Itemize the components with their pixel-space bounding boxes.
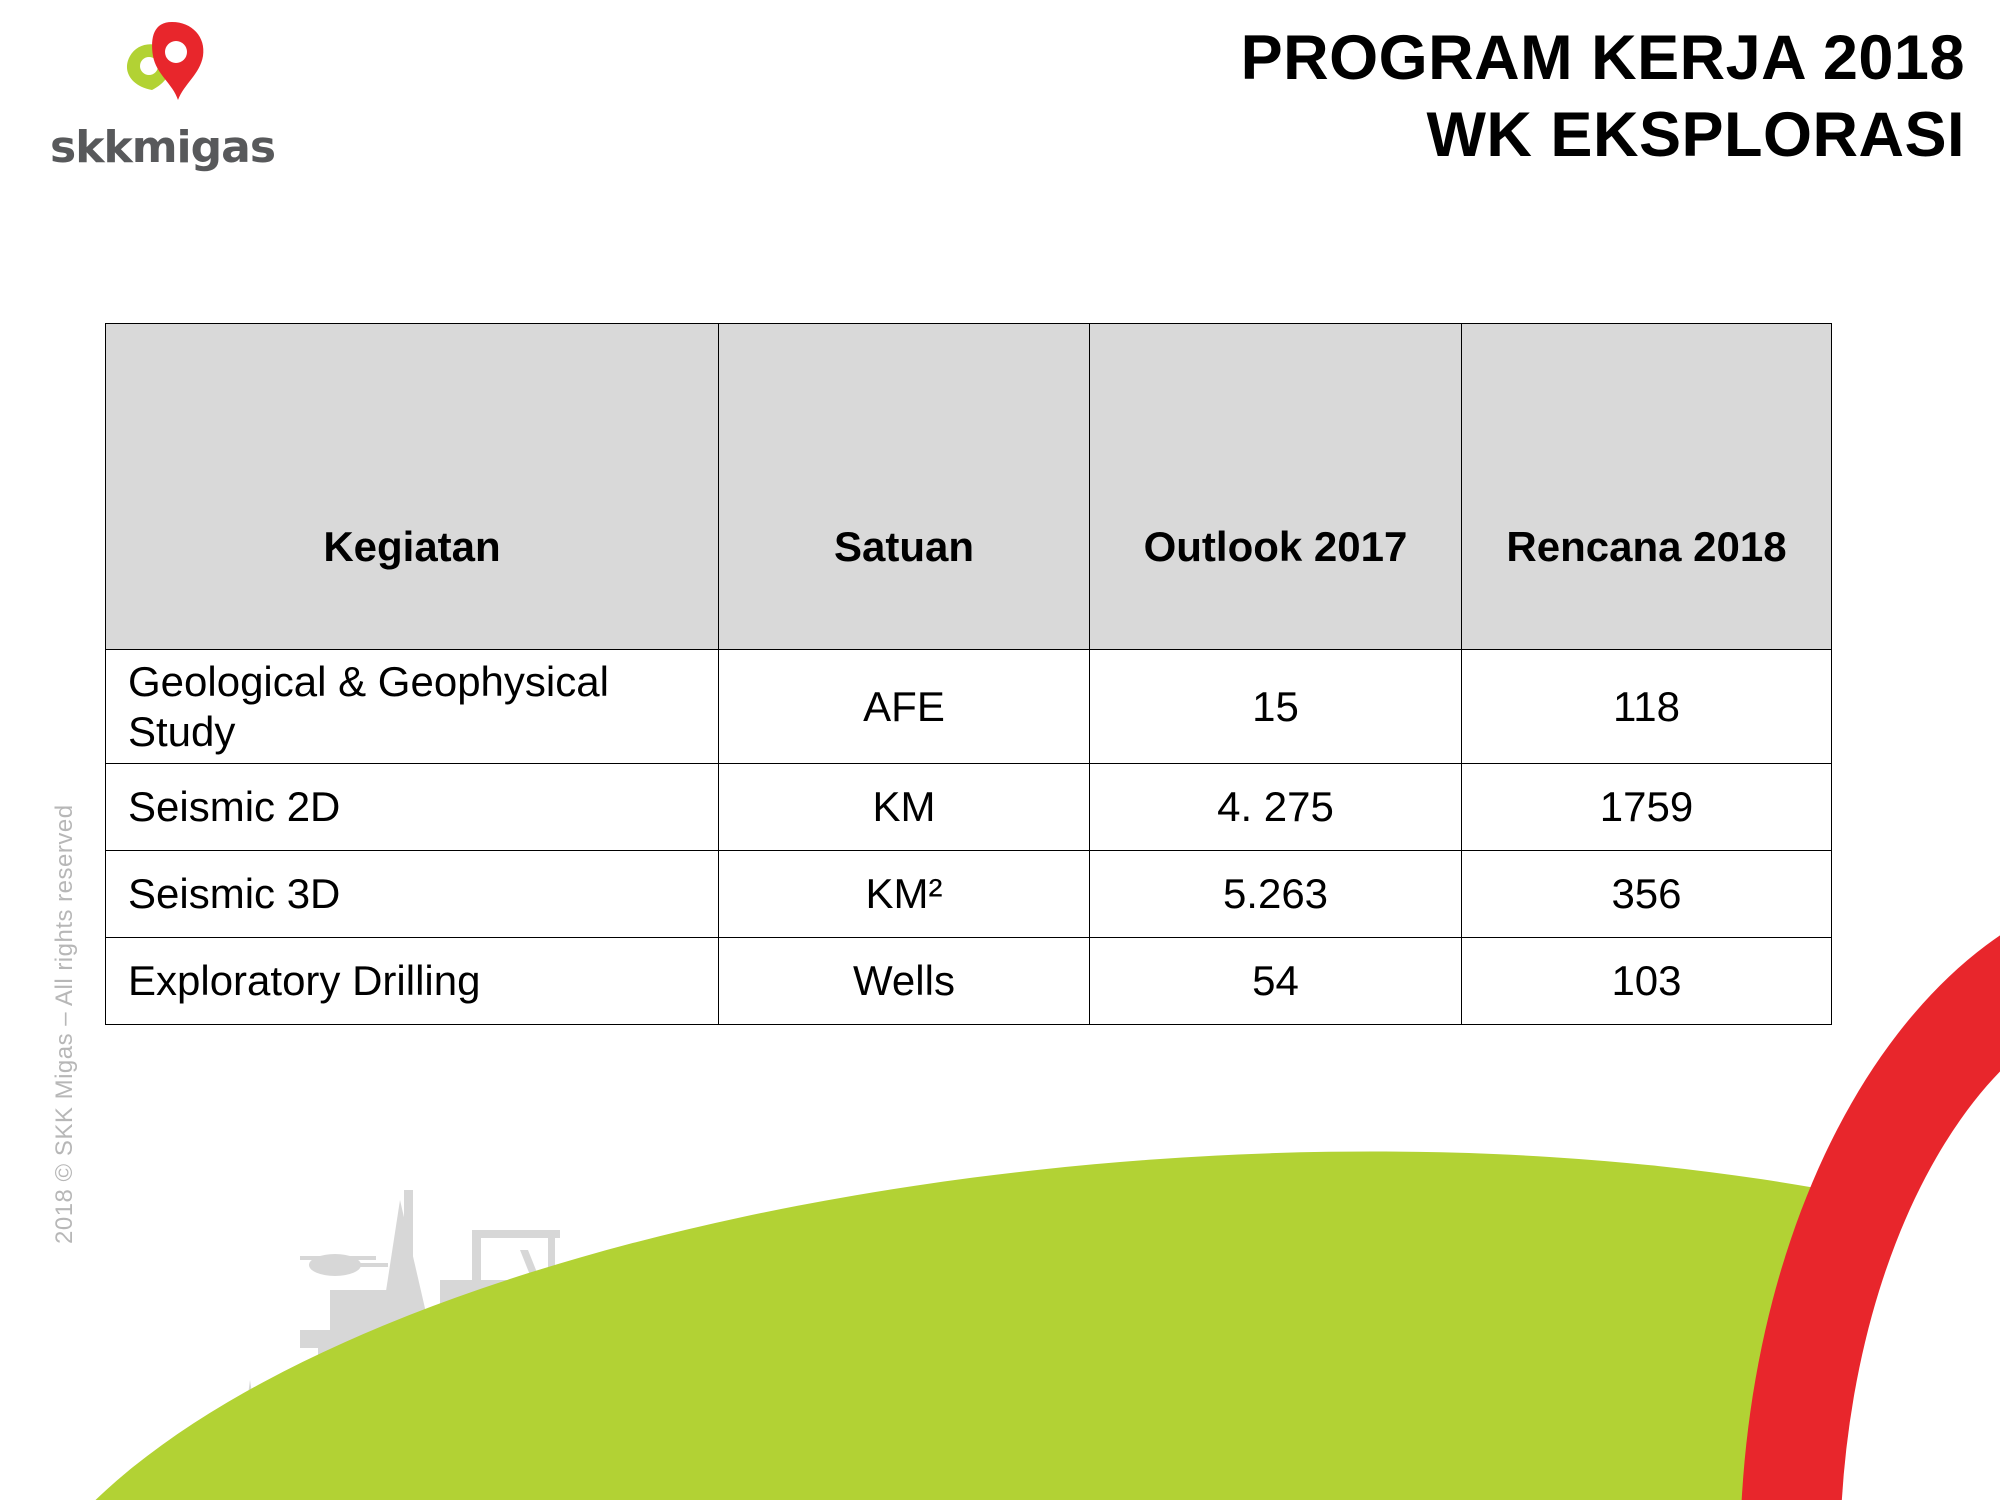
cell-kegiatan: Exploratory Drilling (106, 938, 719, 1025)
column-header-rencana-2018: Rencana 2018 (1462, 324, 1832, 650)
cell-outlook-2017: 15 (1090, 650, 1462, 764)
cell-rencana-2018: 356 (1462, 851, 1832, 938)
logo-wordmark: skkmigas (50, 122, 275, 173)
cell-outlook-2017: 4. 275 (1090, 764, 1462, 851)
cell-satuan: KM² (719, 851, 1090, 938)
logo-mark-icon (100, 22, 220, 127)
table-row: Seismic 3D KM² 5.263 356 (106, 851, 1832, 938)
cell-rencana-2018: 103 (1462, 938, 1832, 1025)
cell-rencana-2018: 1759 (1462, 764, 1832, 851)
cell-outlook-2017: 5.263 (1090, 851, 1462, 938)
page-title: PROGRAM KERJA 2018 WK EKSPLORASI (665, 20, 1965, 174)
page-number: 20 (1937, 1444, 1974, 1482)
column-header-satuan: Satuan (719, 324, 1090, 650)
table-header-row: Kegiatan Satuan Outlook 2017 Rencana 201… (106, 324, 1832, 650)
cell-satuan: Wells (719, 938, 1090, 1025)
table-row: Seismic 2D KM 4. 275 1759 (106, 764, 1832, 851)
green-band-decoration (0, 1095, 2000, 1500)
table-row: Exploratory Drilling Wells 54 103 (106, 938, 1832, 1025)
cell-kegiatan: Geological & Geophysical Study (106, 650, 719, 764)
column-header-outlook-2017: Outlook 2017 (1090, 324, 1462, 650)
cell-satuan: AFE (719, 650, 1090, 764)
column-header-kegiatan: Kegiatan (106, 324, 719, 650)
copyright-sidebar: 2018 © SKK Migas – All rights reserved (51, 844, 79, 1244)
table: Kegiatan Satuan Outlook 2017 Rencana 201… (105, 323, 1832, 1025)
cell-kegiatan: Seismic 2D (106, 764, 719, 851)
title-line-1: PROGRAM KERJA 2018 (665, 20, 1965, 97)
cell-kegiatan: Seismic 3D (106, 851, 719, 938)
cell-satuan: KM (719, 764, 1090, 851)
table-row: Geological & Geophysical Study AFE 15 11… (106, 650, 1832, 764)
cell-outlook-2017: 54 (1090, 938, 1462, 1025)
slide: skkmigas PROGRAM KERJA 2018 WK EKSPLORAS… (0, 0, 2000, 1500)
skkmigas-logo: skkmigas (40, 22, 270, 172)
cell-rencana-2018: 118 (1462, 650, 1832, 764)
work-program-table: Kegiatan Satuan Outlook 2017 Rencana 201… (105, 323, 1831, 1025)
title-line-2: WK EKSPLORASI (665, 97, 1965, 174)
